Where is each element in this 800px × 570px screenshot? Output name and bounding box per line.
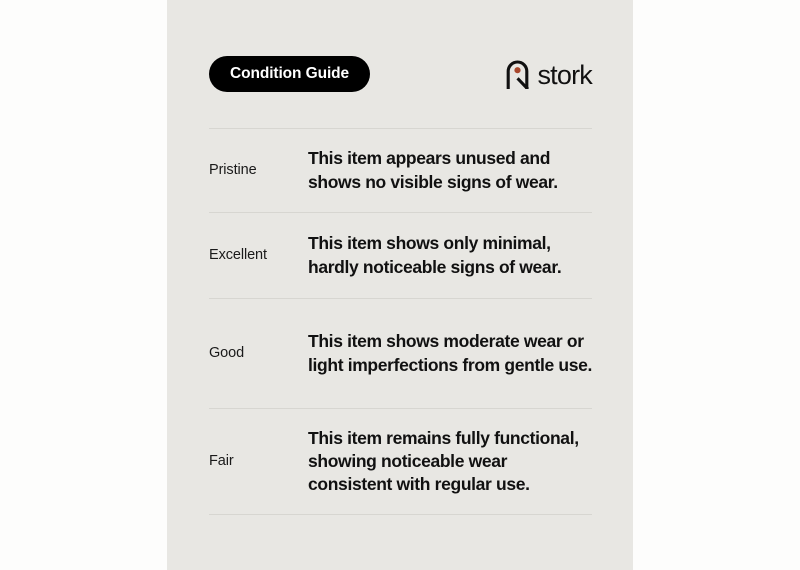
condition-label: Good bbox=[209, 344, 308, 362]
condition-description: This item remains fully functional, show… bbox=[308, 427, 592, 496]
table-row: Excellent This item shows only minimal, … bbox=[209, 213, 592, 298]
condition-description: This item appears unused and shows no vi… bbox=[308, 147, 592, 193]
brand-wordmark: stork bbox=[537, 62, 592, 89]
table-row: Fair This item remains fully functional,… bbox=[209, 409, 592, 514]
table-row: Good This item shows moderate wear or li… bbox=[209, 299, 592, 408]
condition-label: Excellent bbox=[209, 246, 308, 264]
table-divider-bottom bbox=[209, 514, 592, 515]
stork-arch-logo-icon bbox=[505, 59, 531, 89]
table-row: Pristine This item appears unused and sh… bbox=[209, 129, 592, 212]
condition-table: Pristine This item appears unused and sh… bbox=[209, 128, 592, 515]
condition-description: This item shows moderate wear or light i… bbox=[308, 330, 592, 376]
condition-guide-card: Condition Guide stork Pristine This item… bbox=[167, 0, 633, 570]
condition-label: Fair bbox=[209, 452, 308, 470]
condition-label: Pristine bbox=[209, 161, 308, 179]
condition-description: This item shows only minimal, hardly not… bbox=[308, 232, 592, 278]
screenshot-canvas: Condition Guide stork Pristine This item… bbox=[0, 0, 800, 570]
card-header: Condition Guide stork bbox=[209, 56, 592, 92]
condition-guide-badge: Condition Guide bbox=[209, 56, 370, 92]
brand-lockup: stork bbox=[505, 59, 592, 89]
